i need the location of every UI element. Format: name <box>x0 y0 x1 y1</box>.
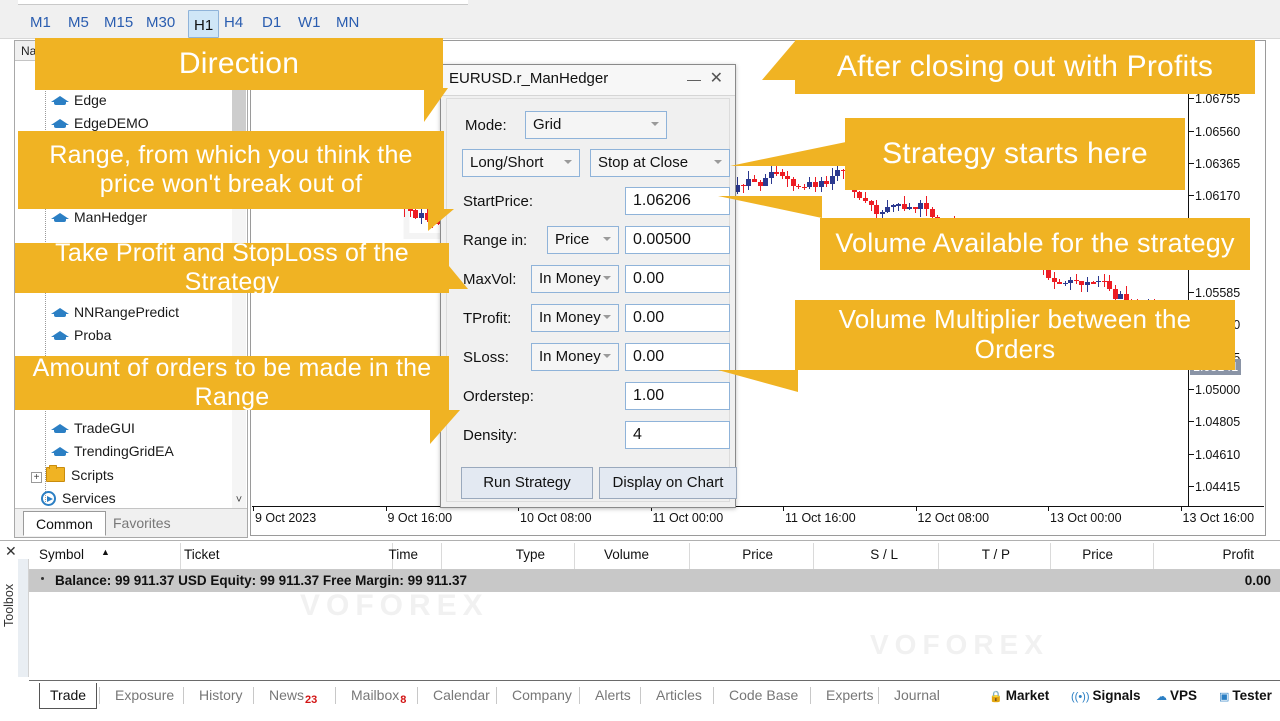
candlestick <box>741 42 746 507</box>
column-header-price[interactable]: Price <box>1053 547 1113 562</box>
candlestick <box>1024 42 1029 507</box>
callout-after-closing-tail <box>762 40 796 80</box>
toolbox-link-label: Signals <box>1093 688 1141 703</box>
candlestick <box>735 42 740 507</box>
rangein-unit-value: Price <box>555 231 589 248</box>
toolbar-divider <box>18 0 468 5</box>
candlestick <box>1079 42 1084 507</box>
expert-advisor-icon <box>51 445 69 458</box>
time-tick: 10 Oct 08:00 <box>520 511 592 525</box>
tab-label: Mailbox <box>351 687 399 703</box>
candlestick <box>930 42 935 507</box>
candlestick <box>807 42 812 507</box>
candlestick <box>1179 42 1184 507</box>
toolbox-link-label: VPS <box>1170 688 1197 703</box>
maxvol-unit-select[interactable]: In Money <box>531 265 619 293</box>
nav-tab-favorites[interactable]: Favorites <box>101 511 183 536</box>
sloss-unit-select[interactable]: In Money <box>531 343 619 371</box>
chevron-down-icon <box>651 122 659 126</box>
candlestick <box>1140 42 1145 507</box>
toolbox-link-market[interactable]: 🔒Market <box>989 688 1049 703</box>
candlestick <box>769 42 774 507</box>
candlestick <box>980 42 985 507</box>
callout-range-line2: price won't break out of <box>100 170 363 199</box>
column-divider <box>441 543 442 569</box>
callout-after-closing: After closing out with Profits <box>795 40 1255 94</box>
column-header-ticket[interactable]: Ticket <box>184 547 220 562</box>
toolbox-watermark-2: VOFOREX <box>870 629 1049 661</box>
timeframe-h1[interactable]: H1 <box>188 10 219 38</box>
toolbox-tab-experts[interactable]: Experts <box>816 683 883 709</box>
nav-item-services[interactable]: Services <box>41 487 116 509</box>
broadcast-icon: ((•)) <box>1071 691 1090 703</box>
nav-item-edge[interactable]: Edge <box>51 89 107 112</box>
price-tick: 1.06560 <box>1189 125 1240 139</box>
density-label: Density: <box>463 427 517 444</box>
candlestick <box>791 42 796 507</box>
stop-value: Stop at Close <box>598 154 688 171</box>
table-row[interactable]: Balance: 99 911.37 USD Equity: 99 911.37… <box>29 570 1280 592</box>
callout-range: Range, from which you think the price wo… <box>18 131 444 209</box>
tprofit-unit-value: In Money <box>539 309 601 326</box>
chevron-down-icon <box>603 237 611 241</box>
candlestick <box>1124 42 1129 507</box>
callout-volume-multiplier-tail <box>718 370 798 392</box>
orderstep-label: Orderstep: <box>463 388 534 405</box>
callout-takeprofit-tail <box>430 243 468 289</box>
candlestick <box>824 42 829 507</box>
nav-item-label: Proba <box>74 327 111 343</box>
candlestick <box>1135 42 1140 507</box>
tab-divider <box>417 687 418 704</box>
time-tick: 11 Oct 16:00 <box>785 511 856 525</box>
candlestick <box>852 42 857 507</box>
callout-volume-available-tail <box>718 196 822 218</box>
tab-label: Code Base <box>729 687 798 703</box>
callout-amount-tail <box>430 410 460 444</box>
chevron-down-icon <box>714 160 722 164</box>
nav-item-label: Services <box>62 490 116 506</box>
close-icon[interactable]: ✕ <box>710 68 723 88</box>
expert-advisor-icon <box>51 117 69 130</box>
column-header-price[interactable]: Price <box>713 547 773 562</box>
mode-value: Grid <box>533 116 561 133</box>
candlestick <box>819 42 824 507</box>
chevron-down-icon <box>603 276 611 280</box>
toolbox-panel: ✕ Toolbox VOFOREX VOFOREX Symbol▲TicketT… <box>0 540 1280 721</box>
chevron-down-icon <box>564 160 572 164</box>
candlestick <box>880 42 885 507</box>
timeframe-m30[interactable]: M30 <box>146 14 175 31</box>
candlestick <box>896 42 901 507</box>
candlestick <box>913 42 918 507</box>
toolbox-tab-company[interactable]: Company <box>502 683 582 709</box>
toolbox-tabs: TradeExposureHistoryNews23Mailbox8Calend… <box>29 680 1280 711</box>
candlestick <box>758 42 763 507</box>
tab-label: History <box>199 687 243 703</box>
candlestick <box>1035 42 1040 507</box>
tab-divider <box>253 687 254 704</box>
tab-divider <box>579 687 580 704</box>
candlestick <box>863 42 868 507</box>
lock-icon: 🔒 <box>989 691 1003 703</box>
tab-divider <box>810 687 811 704</box>
price-tick: 1.06170 <box>1189 189 1240 203</box>
candlestick <box>941 42 946 507</box>
candlestick <box>746 42 751 507</box>
sloss-input[interactable]: 0.00 <box>625 343 730 371</box>
startprice-input[interactable]: 1.06206 <box>625 187 730 215</box>
price-tick-label: 1.06755 <box>1195 92 1240 106</box>
row-bullet-icon <box>41 577 44 580</box>
nav-item-proba[interactable]: Proba <box>51 324 111 347</box>
tab-divider <box>878 687 879 704</box>
candlestick <box>835 42 840 507</box>
candlestick <box>963 42 968 507</box>
expert-advisor-icon <box>51 329 69 342</box>
chevron-down-icon[interactable]: ˅ <box>232 493 246 509</box>
price-tick-label: 1.04415 <box>1195 480 1240 494</box>
tab-divider <box>713 687 714 704</box>
nav-item-label: TrendingGridEA <box>74 443 174 459</box>
column-header-time[interactable]: Time <box>358 547 418 562</box>
nav-tab-common[interactable]: Common <box>23 511 106 536</box>
expert-advisor-icon <box>51 94 69 107</box>
sort-ascending-icon[interactable]: ▲ <box>101 547 110 557</box>
candlestick <box>1041 42 1046 507</box>
toolbox-link-tester[interactable]: ▣Tester <box>1219 688 1272 703</box>
account-summary: Balance: 99 911.37 USD Equity: 99 911.37… <box>55 573 467 588</box>
candlestick <box>1146 42 1151 507</box>
cloud-icon: ☁ <box>1156 691 1167 703</box>
toolbox-watermark-1: VOFOREX <box>300 589 489 623</box>
chevron-down-icon <box>603 315 611 319</box>
candlestick <box>946 42 951 507</box>
candlestick <box>924 42 929 507</box>
timeframe-h4[interactable]: H4 <box>224 14 243 31</box>
callout-strategy-starts-tail <box>730 142 846 166</box>
tab-label: Trade <box>50 687 86 703</box>
candlestick <box>1052 42 1057 507</box>
sloss-label: SLoss: <box>463 349 509 366</box>
price-tick-label: 1.04805 <box>1195 415 1240 429</box>
candlestick <box>1007 42 1012 507</box>
candlestick <box>780 42 785 507</box>
timeframe-m1[interactable]: M1 <box>30 14 51 31</box>
tab-divider <box>496 687 497 704</box>
price-tick: 1.04610 <box>1189 448 1240 462</box>
candlestick <box>1152 42 1157 507</box>
candlestick <box>1091 42 1096 507</box>
column-header-profit[interactable]: Profit <box>1194 547 1254 562</box>
mode-label: Mode: <box>465 117 507 134</box>
run-strategy-button[interactable]: Run Strategy <box>461 467 593 499</box>
price-tick: 1.06755 <box>1189 92 1240 106</box>
column-divider <box>689 543 690 569</box>
maxvol-label: MaxVol: <box>463 271 516 288</box>
column-header-type[interactable]: Type <box>485 547 545 562</box>
time-tick: 11 Oct 00:00 <box>653 511 724 525</box>
price-tick-label: 1.04610 <box>1195 448 1240 462</box>
candlestick <box>1046 42 1051 507</box>
direction-value: Long/Short <box>470 154 543 171</box>
candlestick <box>902 42 907 507</box>
candlestick <box>763 42 768 507</box>
price-tick-label: 1.05585 <box>1195 286 1240 300</box>
expert-advisor-icon <box>51 422 69 435</box>
callout-takeprofit: Take Profit and StopLoss of the Strategy <box>15 243 449 293</box>
dialog-body: Mode: Grid Long/Short Stop at Close Star… <box>446 98 730 502</box>
candlestick <box>968 42 973 507</box>
nav-item-nnrangepredict[interactable]: NNRangePredict <box>51 301 179 324</box>
price-tick: 1.05000 <box>1189 383 1240 397</box>
display-on-chart-button[interactable]: Display on Chart <box>599 467 737 499</box>
tab-label: Articles <box>656 687 702 703</box>
candlestick <box>885 42 890 507</box>
candlestick <box>935 42 940 507</box>
time-tick: 13 Oct 00:00 <box>1050 511 1122 525</box>
candlestick <box>1029 42 1034 507</box>
toolbox-grip[interactable] <box>18 559 29 677</box>
manhedger-dialog[interactable]: EURUSD.r_ManHedger — ✕ Mode: Grid Long/S… <box>440 64 736 508</box>
orderstep-input[interactable]: 1.00 <box>625 382 730 410</box>
column-divider <box>574 543 575 569</box>
timeframe-m5[interactable]: M5 <box>68 14 89 31</box>
tab-divider <box>99 687 100 704</box>
tab-label: Company <box>512 687 572 703</box>
timeframe-toolbar: M1M5M15M30H1H4D1W1MN <box>0 0 1280 39</box>
tab-label: Calendar <box>433 687 490 703</box>
candlestick <box>1168 42 1173 507</box>
folder-icon <box>46 467 65 482</box>
dialog-title: EURUSD.r_ManHedger <box>449 70 608 87</box>
positions-table-header[interactable]: Symbol▲TicketTimeTypeVolumePriceS / LT /… <box>29 543 1280 570</box>
tab-label: Experts <box>826 687 873 703</box>
candlestick <box>1074 42 1079 507</box>
price-tick: 1.04415 <box>1189 480 1240 494</box>
candlestick <box>846 42 851 507</box>
time-tick: 9 Oct 16:00 <box>388 511 453 525</box>
expand-icon[interactable]: + <box>31 472 42 483</box>
row-profit: 0.00 <box>1245 573 1271 588</box>
timeframe-d1[interactable]: D1 <box>262 14 281 31</box>
nav-item-label: Edge <box>74 92 107 108</box>
column-header-sl[interactable]: S / L <box>838 547 898 562</box>
toolbox-tab-articles[interactable]: Articles <box>646 683 712 709</box>
time-tick: 9 Oct 2023 <box>255 511 316 525</box>
nav-item-tradegui[interactable]: TradeGUI <box>51 417 135 440</box>
toolbox-tab-history[interactable]: History <box>189 683 253 709</box>
candlestick <box>802 42 807 507</box>
tab-label: Journal <box>894 687 940 703</box>
candlestick <box>891 42 896 507</box>
nav-item-label: Scripts <box>71 467 114 483</box>
density-input[interactable]: 4 <box>625 421 730 449</box>
nav-item-scripts[interactable]: +Scripts <box>31 464 114 487</box>
mode-select[interactable]: Grid <box>525 111 667 139</box>
toolbox-label: Toolbox <box>2 611 16 627</box>
expert-advisor-icon <box>51 306 69 319</box>
tprofit-input[interactable]: 0.00 <box>625 304 730 332</box>
toolbox-link-label: Market <box>1006 688 1050 703</box>
tab-divider <box>335 687 336 704</box>
candlestick <box>907 42 912 507</box>
toolbox-link-label: Tester <box>1232 688 1272 703</box>
candlestick <box>1174 42 1179 507</box>
candlestick <box>841 42 846 507</box>
column-divider <box>180 543 181 569</box>
candlestick <box>1057 42 1062 507</box>
sloss-unit-value: In Money <box>539 348 601 365</box>
price-tick: 1.04805 <box>1189 415 1240 429</box>
candlestick <box>1163 42 1168 507</box>
timeframe-w1[interactable]: W1 <box>298 14 321 31</box>
tab-divider <box>183 687 184 704</box>
tab-label: Alerts <box>595 687 631 703</box>
timeframe-m15[interactable]: M15 <box>104 14 133 31</box>
direction-select[interactable]: Long/Short <box>462 149 580 177</box>
callout-amount: Amount of orders to be made in the Range <box>15 356 449 410</box>
candlestick <box>991 42 996 507</box>
toolbox-tab-alerts[interactable]: Alerts <box>585 683 641 709</box>
candlestick <box>1096 42 1101 507</box>
candlestick <box>830 42 835 507</box>
candlestick <box>985 42 990 507</box>
price-tick-label: 1.06560 <box>1195 125 1240 139</box>
tab-label: News <box>269 687 304 703</box>
toolbox-link-signals[interactable]: ((•))Signals <box>1071 688 1141 703</box>
timeframe-mn[interactable]: MN <box>336 14 359 31</box>
callout-volume-multiplier: Volume Multiplier between the Orders <box>795 300 1235 370</box>
toolbox-tab-trade[interactable]: Trade <box>39 683 97 709</box>
toolbox-tab-news[interactable]: News23 <box>259 683 327 709</box>
time-axis[interactable]: 9 Oct 20239 Oct 16:0010 Oct 08:0011 Oct … <box>252 506 1264 535</box>
candlestick <box>1113 42 1118 507</box>
toolbox-tab-journal[interactable]: Journal <box>884 683 950 709</box>
candlestick <box>1013 42 1018 507</box>
candlestick <box>1085 42 1090 507</box>
tab-badge: 8 <box>400 694 406 706</box>
tab-label: Exposure <box>115 687 174 703</box>
candlestick <box>996 42 1001 507</box>
toolbox-tab-mailbox[interactable]: Mailbox8 <box>341 683 416 709</box>
tab-divider <box>640 687 641 704</box>
column-divider <box>1050 543 1051 569</box>
time-tick: 12 Oct 08:00 <box>918 511 990 525</box>
price-tick-label: 1.06170 <box>1195 189 1240 203</box>
callout-direction-tail <box>424 88 448 122</box>
stop-mode-select[interactable]: Stop at Close <box>590 149 730 177</box>
tprofit-label: TProfit: <box>463 310 511 327</box>
callout-volume-available: Volume Available for the strategy <box>820 218 1250 270</box>
time-tick: 13 Oct 16:00 <box>1183 511 1255 525</box>
maxvol-input[interactable]: 0.00 <box>625 265 730 293</box>
candlestick <box>1157 42 1162 507</box>
chevron-down-icon <box>603 354 611 358</box>
maxvol-unit-value: In Money <box>539 270 601 287</box>
rangein-unit-select[interactable]: Price <box>547 226 619 254</box>
toolbox-tab-exposure[interactable]: Exposure <box>105 683 184 709</box>
dialog-title-bar[interactable]: EURUSD.r_ManHedger — ✕ <box>441 65 735 96</box>
nav-item-label: EdgeDEMO <box>74 115 149 131</box>
column-header-symbol[interactable]: Symbol <box>39 547 84 562</box>
startprice-label: StartPrice: <box>463 193 533 210</box>
candlestick <box>869 42 874 507</box>
toolbox-tab-codebase[interactable]: Code Base <box>719 683 808 709</box>
callout-range-line1: Range, from which you think the <box>49 141 412 170</box>
column-header-volume[interactable]: Volume <box>589 547 649 562</box>
minimize-icon[interactable]: — <box>687 71 701 87</box>
column-divider <box>938 543 939 569</box>
toolbox-link-vps[interactable]: ☁VPS <box>1156 688 1197 703</box>
price-tick: 1.06365 <box>1189 157 1240 171</box>
candlestick <box>952 42 957 507</box>
tprofit-unit-select[interactable]: In Money <box>531 304 619 332</box>
nav-item-label: TradeGUI <box>74 420 135 436</box>
candlestick <box>857 42 862 507</box>
callout-strategy-starts: Strategy starts here <box>845 118 1185 190</box>
candlestick <box>1063 42 1068 507</box>
nav-item-trendinggridea[interactable]: TrendingGridEA <box>51 440 174 463</box>
nav-item-manhedger[interactable]: ManHedger <box>51 206 147 229</box>
column-divider <box>1153 543 1154 569</box>
candlestick <box>796 42 801 507</box>
candlestick <box>1018 42 1023 507</box>
price-tick: 1.05585 <box>1189 286 1240 300</box>
price-tick-label: 1.06365 <box>1195 157 1240 171</box>
rangein-input[interactable]: 0.00500 <box>625 226 730 254</box>
candlestick <box>774 42 779 507</box>
candlestick <box>957 42 962 507</box>
navigator-tabs: Common Favorites <box>15 508 247 537</box>
nav-item-label: ManHedger <box>74 209 147 225</box>
tab-badge: 23 <box>305 694 317 706</box>
nav-item-label: NNRangePredict <box>74 304 179 320</box>
candlestick <box>1118 42 1123 507</box>
service-icon <box>41 491 56 506</box>
callout-direction: Direction <box>35 38 443 90</box>
candlestick <box>813 42 818 507</box>
candlestick <box>1002 42 1007 507</box>
expert-advisor-icon <box>51 211 69 224</box>
candlestick <box>1107 42 1112 507</box>
price-axis[interactable]: 1.069501.067551.065601.063651.061701.059… <box>1188 42 1265 507</box>
chip-icon: ▣ <box>1219 691 1229 703</box>
candlestick <box>752 42 757 507</box>
rangein-label: Range in: <box>463 232 527 249</box>
callout-range-tail <box>428 209 454 231</box>
candlestick <box>918 42 923 507</box>
candlestick <box>974 42 979 507</box>
candlestick <box>1129 42 1134 507</box>
candlestick <box>785 42 790 507</box>
candlestick <box>1068 42 1073 507</box>
candlestick <box>1102 42 1107 507</box>
toolbox-close-icon[interactable]: ✕ <box>5 543 17 560</box>
price-tick-label: 1.05000 <box>1195 383 1240 397</box>
candlestick <box>874 42 879 507</box>
column-header-tp[interactable]: T / P <box>950 547 1010 562</box>
toolbox-tab-calendar[interactable]: Calendar <box>423 683 500 709</box>
column-divider <box>813 543 814 569</box>
